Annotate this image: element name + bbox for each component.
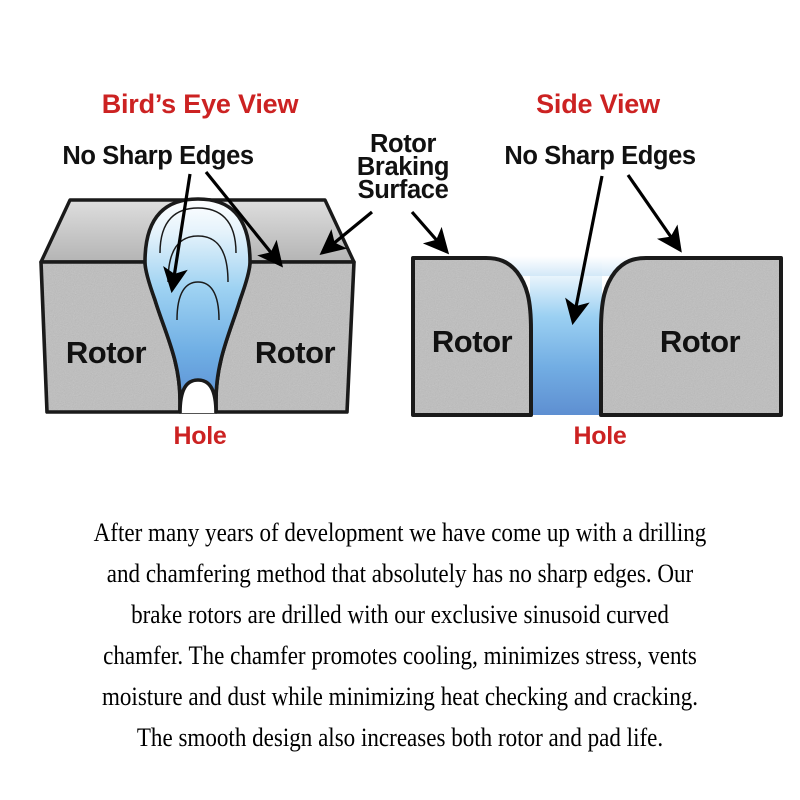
birds-eye-view-group: Bird’s Eye View (41, 89, 354, 450)
description-paragraph: After many years of development we have … (0, 512, 800, 758)
caption-line: After many years of development we have … (52, 512, 748, 553)
rotor-label-right-sideview: Rotor (660, 324, 741, 359)
rotor-label-left-sideview: Rotor (432, 324, 513, 359)
side-view-group: Side View Rotor Rotor Hole No Sharp Edge… (413, 89, 781, 450)
caption-line: The smooth design also increases both ro… (52, 717, 748, 758)
diagram-page: Bird’s Eye View (0, 0, 800, 800)
caption-line: and chamfering method that absolutely ha… (52, 553, 748, 594)
no-sharp-edges-label-sideview: No Sharp Edges (504, 142, 696, 170)
side-view-title: Side View (536, 89, 661, 119)
caption-line: brake rotors are drilled with our exclus… (52, 594, 748, 635)
rotor-label-right-birdseye: Rotor (255, 335, 336, 370)
rotor-chamfer-illustration: Bird’s Eye View (0, 0, 800, 500)
no-sharp-edges-label-birdseye: No Sharp Edges (62, 142, 254, 170)
caption-line: chamfer. The chamfer promotes cooling, m… (52, 635, 748, 676)
caption-line: moisture and dust while minimizing heat … (52, 676, 748, 717)
rotor-label-left-birdseye: Rotor (66, 335, 147, 370)
rotor-braking-surface-line-3: Surface (358, 176, 449, 204)
birds-eye-view-title: Bird’s Eye View (102, 89, 300, 119)
hole-exit-notch (180, 380, 216, 413)
hole-label-birdseye: Hole (174, 422, 227, 450)
no-sharp-edges-arrow-right-sideview (628, 175, 680, 250)
hole-label-sideview: Hole (574, 422, 627, 450)
rotor-braking-surface-arrow-right (412, 212, 447, 252)
hole-gap-fill-sideview (530, 256, 602, 415)
